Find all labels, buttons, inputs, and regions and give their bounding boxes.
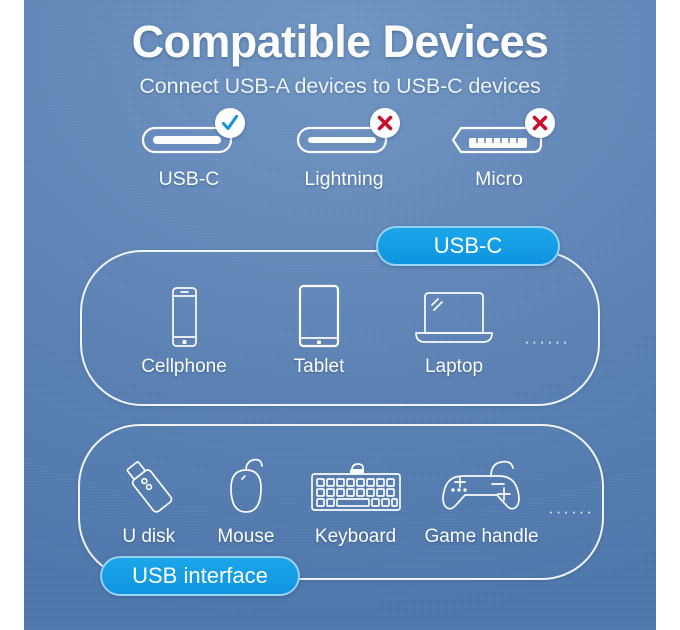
keyboard-art xyxy=(304,454,408,520)
tablet-art xyxy=(291,284,347,350)
laptop-art xyxy=(408,284,500,350)
device-item-tablet: Tablet xyxy=(254,284,384,378)
usb-interface-group-pill: USB interface xyxy=(100,556,300,596)
connector-item-micro: Micro xyxy=(424,112,574,191)
device-label: Laptop xyxy=(425,356,483,378)
device-label: Keyboard xyxy=(315,526,396,548)
device-label: Cellphone xyxy=(141,356,227,378)
device-item-u-disk: U disk xyxy=(102,454,196,548)
connector-label: Lightning xyxy=(304,168,383,191)
device-item-game-handle: Game handle xyxy=(415,454,548,548)
cellphone-icon xyxy=(161,284,207,350)
connector-item-usb-c: USB-C xyxy=(114,112,264,191)
device-label: U disk xyxy=(122,526,175,548)
cross-badge-icon xyxy=(370,108,400,138)
infographic-poster: Compatible Devices Connect USB-A devices… xyxy=(24,0,656,630)
connector-comparison-row: USB-C Lightning xyxy=(114,112,574,204)
check-badge-icon xyxy=(215,108,245,138)
usb-c-device-row: Cellphone Tablet Laptop xyxy=(114,284,584,378)
cross-badge-icon xyxy=(525,108,555,138)
gamepad-icon xyxy=(433,454,529,520)
usb-c-group-ellipsis: ······ xyxy=(524,332,570,378)
page-title: Compatible Devices xyxy=(24,16,656,68)
keyboard-icon xyxy=(304,454,408,520)
device-item-cellphone: Cellphone xyxy=(114,284,254,378)
gamepad-art xyxy=(433,454,529,520)
device-label: Tablet xyxy=(294,356,345,378)
device-label: Mouse xyxy=(217,526,274,548)
lightning-connector-art xyxy=(284,112,404,164)
connector-label: USB-C xyxy=(159,168,220,191)
cellphone-art xyxy=(161,284,207,350)
device-item-keyboard: Keyboard xyxy=(296,454,415,548)
device-item-laptop: Laptop xyxy=(384,284,524,378)
usb-flash-drive-icon xyxy=(120,454,178,520)
usb-c-group-pill: USB-C xyxy=(376,226,560,266)
tablet-icon xyxy=(291,284,347,350)
usb-interface-device-row: U disk Mouse xyxy=(102,454,594,548)
device-label: Game handle xyxy=(424,526,538,548)
micro-usb-connector-art xyxy=(439,112,559,164)
laptop-icon xyxy=(408,284,500,350)
usb-flash-drive-art xyxy=(120,454,178,520)
usb-interface-group-ellipsis: ······ xyxy=(548,502,594,548)
connector-item-lightning: Lightning xyxy=(269,112,419,191)
connector-label: Micro xyxy=(475,168,523,191)
mouse-icon xyxy=(215,454,277,520)
usb-c-connector-art xyxy=(129,112,249,164)
page-subtitle: Connect USB-A devices to USB-C devices xyxy=(24,74,656,99)
mouse-art xyxy=(215,454,277,520)
device-item-mouse: Mouse xyxy=(196,454,297,548)
